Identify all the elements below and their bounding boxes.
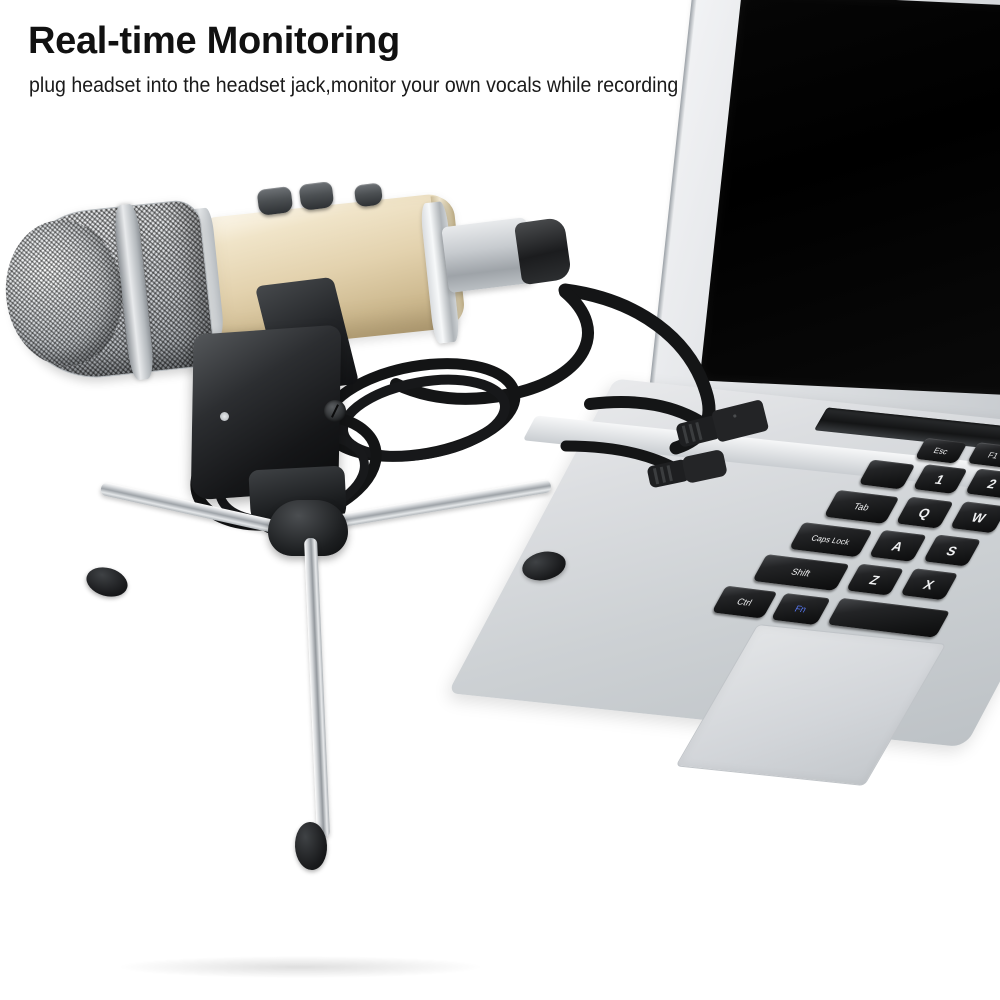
key-backtick[interactable] <box>858 460 915 490</box>
key-2[interactable]: 2 <box>965 469 1000 499</box>
key-space[interactable] <box>827 598 950 638</box>
key-w[interactable]: W <box>950 501 1000 533</box>
banner-headline: Real-time Monitoring <box>28 22 400 62</box>
ground-shadow <box>120 956 480 978</box>
condenser-microphone <box>0 150 620 850</box>
banner-subline: plug headset into the headset jack,monit… <box>29 74 678 98</box>
key-shift[interactable]: Shift <box>752 554 850 591</box>
tripod-foot-right <box>520 548 569 585</box>
key-z[interactable]: Z <box>846 564 904 596</box>
key-s[interactable]: S <box>923 535 981 567</box>
key-label: Esc <box>932 446 950 456</box>
key-ctrl[interactable]: Ctrl <box>711 586 777 619</box>
clip-pin-icon <box>220 412 229 421</box>
key-label: Q <box>916 505 934 520</box>
key-label: A <box>889 538 906 553</box>
key-label: W <box>969 509 989 525</box>
clip-adjustment-screw[interactable] <box>324 400 346 422</box>
key-label: Caps Lock <box>810 533 852 546</box>
key-label: Tab <box>852 501 872 512</box>
key-esc[interactable]: Esc <box>915 438 968 464</box>
key-label: Shift <box>789 567 812 579</box>
key-tab[interactable]: Tab <box>824 490 900 524</box>
key-q[interactable]: Q <box>896 497 954 529</box>
key-label: S <box>944 543 960 558</box>
key-label: 1 <box>933 471 948 486</box>
key-label: 2 <box>985 476 1000 491</box>
key-label: Ctrl <box>735 597 754 608</box>
key-a[interactable]: A <box>869 530 927 562</box>
tripod-leg-front <box>304 538 330 838</box>
cable-boot <box>514 217 572 285</box>
tripod-foot-left <box>83 563 131 601</box>
key-label: Z <box>867 572 883 587</box>
key-fn[interactable]: Fn <box>771 593 831 625</box>
key-x[interactable]: X <box>900 568 958 600</box>
key-1[interactable]: 1 <box>913 464 968 494</box>
key-label: Fn <box>793 604 809 615</box>
key-caps-lock[interactable]: Caps Lock <box>789 522 873 557</box>
gain-knob[interactable] <box>257 186 294 216</box>
product-banner-image: Esc F1 F2 1 2 Tab Q W <box>0 0 1000 1000</box>
volume-knob[interactable] <box>299 181 335 211</box>
key-f1[interactable]: F1 <box>967 442 1000 468</box>
key-label: X <box>921 577 937 592</box>
tripod-leg-right <box>317 479 552 531</box>
key-label: F1 <box>986 450 1000 460</box>
laptop-screen <box>700 0 1000 396</box>
